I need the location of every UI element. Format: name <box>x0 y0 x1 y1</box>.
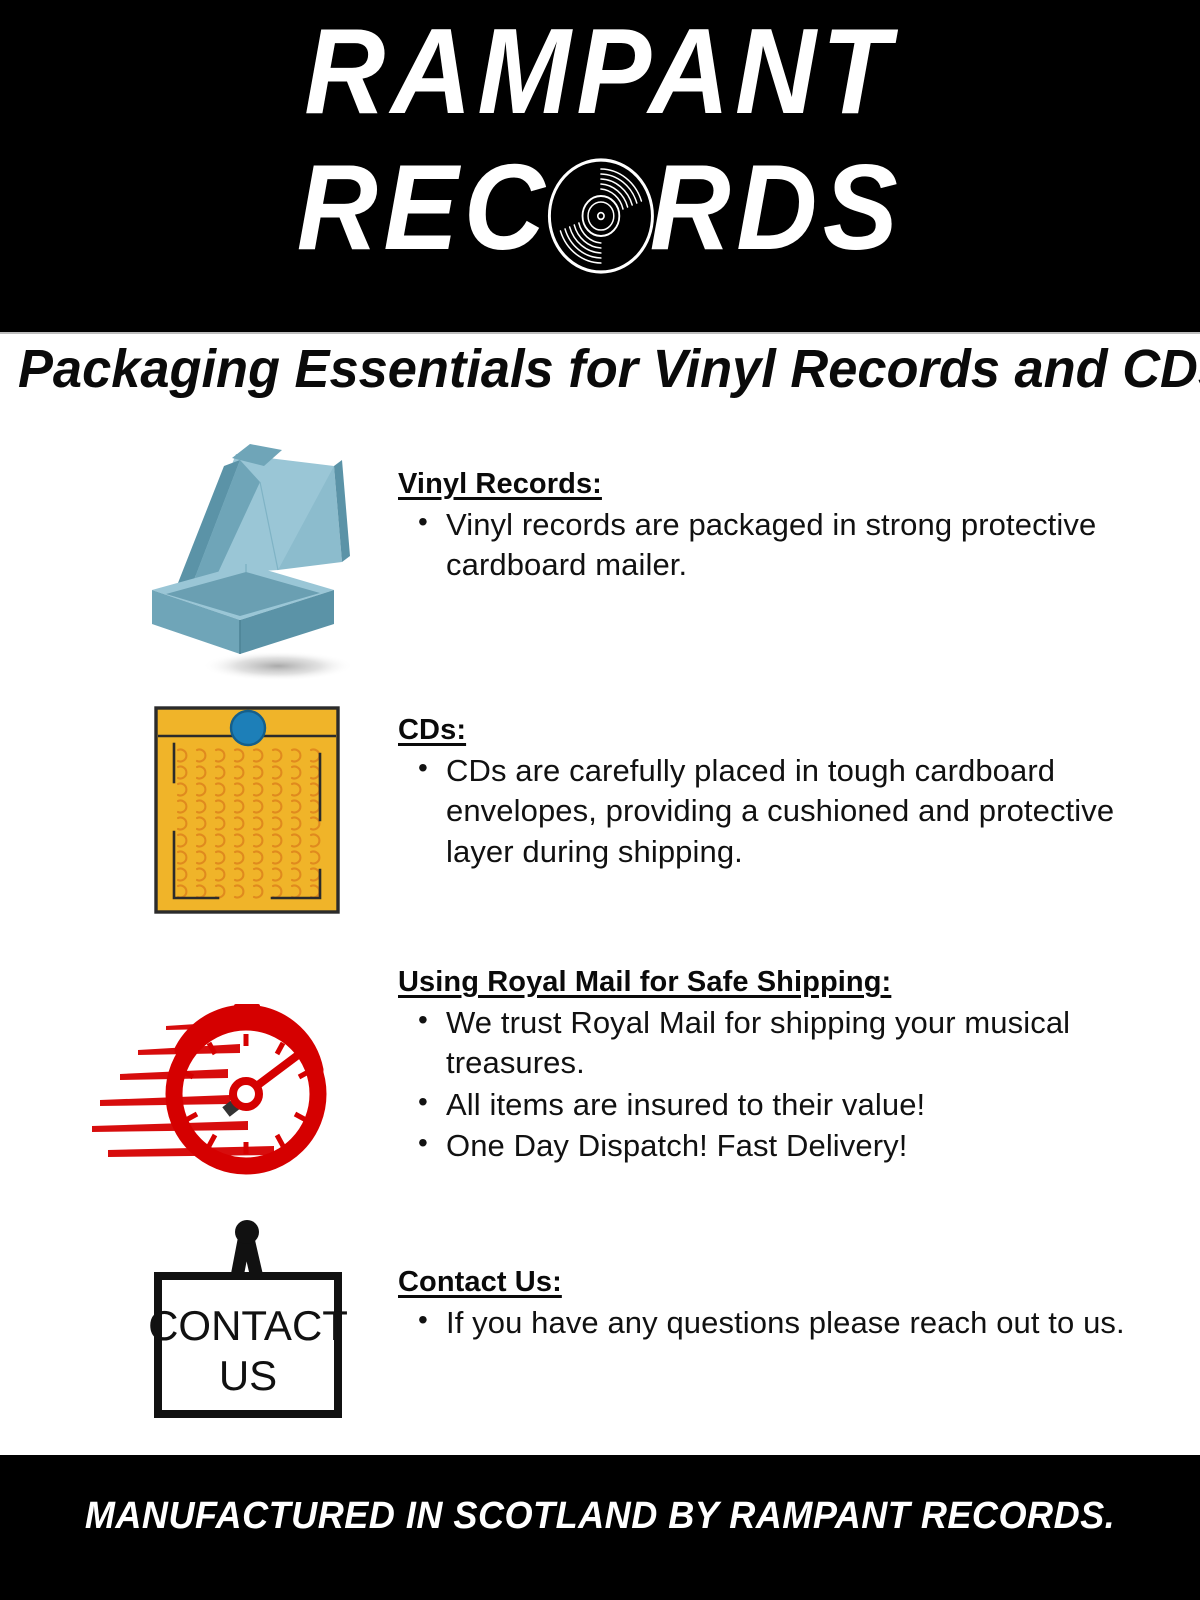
list-item: All items are insured to their value! <box>398 1085 1158 1125</box>
section-contact-us: CONTACT US Contact Us: If you have any q… <box>0 1218 1200 1428</box>
list-item: One Day Dispatch! Fast Delivery! <box>398 1126 1158 1166</box>
vinyl-record-icon <box>547 157 656 275</box>
section-royal-text: Using Royal Mail for Safe Shipping: We t… <box>398 966 1158 1167</box>
footer-text: MANUFACTURED IN SCOTLAND BY RAMPANT RECO… <box>30 1495 1170 1538</box>
section-bullet-list: We trust Royal Mail for shipping your mu… <box>398 1003 1158 1166</box>
page-title: Packaging Essentials for Vinyl Records a… <box>18 338 1182 400</box>
section-royal-mail: Using Royal Mail for Safe Shipping: We t… <box>0 962 1200 1212</box>
contact-us-sign-icon: CONTACT US <box>148 1210 348 1425</box>
brand-line-2-before: REC <box>297 142 551 274</box>
section-vinyl-records: Vinyl Records: Vinyl records are package… <box>0 452 1200 692</box>
list-item: If you have any questions please reach o… <box>398 1303 1158 1343</box>
list-item: We trust Royal Mail for shipping your mu… <box>398 1003 1158 1084</box>
fast-stopwatch-icon <box>78 954 368 1194</box>
brand-line-2-after: RDS <box>650 142 904 274</box>
padded-bubble-mailer-icon <box>152 702 342 917</box>
brand-logo: RAMPANT REC <box>0 0 1200 332</box>
section-cds: CDs: CDs are carefully placed in tough c… <box>0 706 1200 936</box>
brand-line-2: REC <box>48 142 1152 275</box>
poster-page: RAMPANT REC <box>0 0 1200 1600</box>
section-heading: Vinyl Records: <box>398 468 1158 501</box>
header-band: RAMPANT REC <box>0 0 1200 332</box>
section-heading: Contact Us: <box>398 1266 1158 1299</box>
section-bullet-list: Vinyl records are packaged in strong pro… <box>398 505 1158 586</box>
footer-band: MANUFACTURED IN SCOTLAND BY RAMPANT RECO… <box>0 1455 1200 1600</box>
section-heading: CDs: <box>398 714 1158 747</box>
sign-line-1: CONTACT <box>148 1302 348 1349</box>
brand-line-1: RAMPANT <box>48 6 1152 138</box>
section-heading: Using Royal Mail for Safe Shipping: <box>398 966 1158 999</box>
section-contact-text: Contact Us: If you have any questions pl… <box>398 1266 1158 1344</box>
section-bullet-list: CDs are carefully placed in tough cardbo… <box>398 751 1158 872</box>
header-divider <box>0 332 1200 334</box>
sign-line-2: US <box>219 1352 277 1399</box>
cardboard-mailer-box-icon <box>128 430 388 690</box>
list-item: CDs are carefully placed in tough cardbo… <box>398 751 1158 872</box>
section-vinyl-text: Vinyl Records: Vinyl records are package… <box>398 468 1158 587</box>
section-cds-text: CDs: CDs are carefully placed in tough c… <box>398 714 1158 873</box>
list-item: Vinyl records are packaged in strong pro… <box>398 505 1158 586</box>
section-bullet-list: If you have any questions please reach o… <box>398 1303 1158 1343</box>
